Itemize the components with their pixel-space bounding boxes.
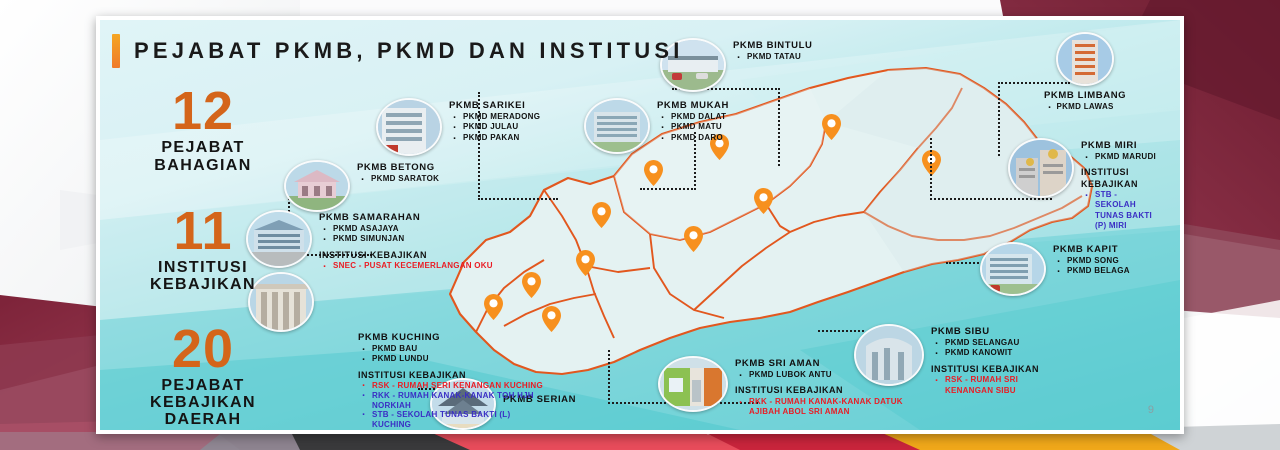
building-mukah-icon — [586, 100, 648, 152]
map-pin-samarahan[interactable] — [522, 272, 541, 298]
block-item: PKMD KANOWIT — [931, 348, 1063, 359]
block-limbang: PKMB LIMBANG PKMD LAWAS — [1044, 32, 1126, 112]
block-item: PKMD LAWAS — [1044, 102, 1126, 113]
block-item: PKMD DARO — [657, 133, 729, 144]
thumb-betong — [284, 160, 350, 212]
statistics-column: 12 PEJABAT BAHAGIAN 11 INSTITUSI KEBAJIK… — [118, 82, 288, 434]
block-title: PKMB SAMARAHAN — [319, 212, 493, 224]
block-item: PKMD JULAU — [449, 122, 540, 133]
block-item: PKMD MATU — [657, 122, 729, 133]
stat-pejabat-kebajikan-daerah: 20 PEJABAT KEBAJIKAN DAERAH — [118, 324, 288, 429]
block-title: PKMB SRI AMAN — [735, 358, 921, 370]
page-number: 9 — [1148, 404, 1154, 416]
building-sri-aman-icon — [660, 358, 726, 410]
connector-miri-v — [930, 138, 932, 200]
block-mukah-text: PKMB MUKAH PKMD DALAT PKMD MATU PKMD DAR… — [657, 98, 729, 144]
institution-heading: INSTITUSI KEBAJIKAN — [1081, 167, 1143, 190]
map-pin-sibu[interactable] — [684, 226, 703, 252]
block-kuching: PKMB KUCHING PKMD BAU PKMD LUNDU INSTITU… — [358, 332, 543, 434]
block-betong-text: PKMB BETONG PKMD SARATOK — [357, 160, 439, 184]
thumb-kapit — [980, 242, 1046, 296]
institution-item: STB - SEKOLAH TUNAS BAKTI (P) MIRI — [1081, 190, 1159, 232]
map-pin-miri[interactable] — [822, 114, 841, 140]
block-item: PKMD MARUDI — [1081, 152, 1159, 163]
building-kapit-icon — [982, 244, 1044, 294]
block-betong: PKMB BETONG PKMD SARATOK — [284, 160, 439, 212]
map-pin-serian[interactable] — [542, 306, 561, 332]
institution-heading: INSTITUSI KEBAJIKAN — [735, 385, 921, 396]
block-item: PKMD BELAGA — [1053, 266, 1130, 277]
block-kapit-text: PKMB KAPIT PKMD SONG PKMD BELAGA — [1053, 242, 1130, 277]
thumb-limbang — [1056, 32, 1114, 86]
block-title: PKMB MIRI — [1081, 140, 1159, 152]
institution-item: RKK - RUMAH KANAK-KANAK DATUK AJIBAH ABO… — [735, 397, 921, 418]
institution-item: TSP - TAMAN SERI PUTERI — [358, 430, 543, 434]
institution-item: RSK - RUMAH SRI KENANGAN SIBU — [931, 375, 1063, 396]
block-item: PKMD PAKAN — [449, 133, 540, 144]
block-mukah: PKMB MUKAH PKMD DALAT PKMD MATU PKMD DAR… — [584, 98, 729, 154]
block-title: PKMB MUKAH — [657, 100, 729, 112]
stat-pejabat-bahagian: 12 PEJABAT BAHAGIAN — [118, 86, 288, 174]
map-pin-sarikei[interactable] — [592, 202, 611, 228]
block-item: PKMD SARATOK — [357, 174, 439, 185]
connector-sriaman-v — [608, 350, 610, 404]
block-item: PKMD BAU — [358, 344, 543, 355]
connector-bintulu-v — [778, 88, 780, 166]
connector-limbang-v — [998, 82, 1000, 156]
block-title: PKMB SIBU — [931, 326, 1063, 338]
block-miri: PKMB MIRI PKMD MARUDI INSTITUSI KEBAJIKA… — [1008, 138, 1159, 231]
block-item: PKMD ASAJAYA — [319, 224, 493, 235]
thumb-mukah — [584, 98, 650, 154]
building-sarikei-icon — [378, 100, 440, 154]
block-bintulu-text: PKMB BINTULU PKMD TATAU — [733, 38, 813, 62]
block-item: PKMD LUBOK ANTU — [735, 370, 921, 381]
stat-label: INSTITUSI KEBAJIKAN — [118, 259, 288, 294]
block-samarahan-text: PKMB SAMARAHAN PKMD ASAJAYA PKMD SIMUNJA… — [319, 210, 493, 272]
block-kapit: PKMB KAPIT PKMD SONG PKMD BELAGA — [980, 242, 1130, 296]
block-item: PKMD LUNDU — [358, 354, 543, 365]
slide-stage: PEJABAT PKMB, PKMD DAN INSTITUSI 12 PEJA… — [0, 0, 1280, 450]
thumb-sarikei — [376, 98, 442, 156]
block-sarikei-text: PKMB SARIKEI PKMD MERADONG PKMD JULAU PK… — [449, 98, 540, 144]
thumb-sri-aman — [658, 356, 728, 412]
stat-number: 12 — [118, 86, 288, 137]
slide-card: PEJABAT PKMB, PKMD DAN INSTITUSI 12 PEJA… — [96, 16, 1184, 434]
block-sibu-text: PKMB SIBU PKMD SELANGAU PKMD KANOWIT INS… — [931, 324, 1063, 396]
block-limbang-text: PKMB LIMBANG PKMD LAWAS — [1044, 88, 1126, 112]
stat-label: PEJABAT BAHAGIAN — [118, 139, 288, 174]
stat-number: 20 — [118, 324, 288, 375]
stat-institusi-kebajikan: 11 INSTITUSI KEBAJIKAN — [118, 206, 288, 294]
institution-item: SNEC - PUSAT KECEMERLANGAN OKU — [319, 261, 493, 271]
stat-number: 11 — [118, 206, 288, 257]
block-title: PKMB KAPIT — [1053, 244, 1130, 256]
map-pin-mukah[interactable] — [644, 160, 663, 186]
block-title: PKMB BINTULU — [733, 40, 813, 52]
block-title: PKMB KUCHING — [358, 332, 543, 344]
block-item: PKMD SONG — [1053, 256, 1130, 267]
connector-sarikei — [478, 198, 558, 200]
title-accent-bar — [112, 34, 120, 68]
block-item: PKMD SIMUNJAN — [319, 234, 493, 245]
page-title: PEJABAT PKMB, PKMD DAN INSTITUSI — [112, 34, 684, 68]
block-sarikei: PKMB SARIKEI PKMD MERADONG PKMD JULAU PK… — [376, 98, 540, 156]
block-title: PKMB LIMBANG — [1044, 90, 1126, 102]
building-miri-icon — [1010, 140, 1072, 196]
institution-heading: INSTITUSI KEBAJIKAN — [319, 250, 493, 261]
map-pin-betong[interactable] — [576, 250, 595, 276]
block-item: PKMD TATAU — [733, 52, 813, 63]
block-sri-aman-text: PKMB SRI AMAN PKMD LUBOK ANTU INSTITUSI … — [735, 356, 921, 417]
institution-heading: INSTITUSI KEBAJIKAN — [931, 364, 1063, 375]
connector-mukah — [640, 188, 696, 190]
institution-heading: INSTITUSI KEBAJIKAN — [358, 370, 543, 381]
building-betong-icon — [286, 162, 348, 210]
institution-item: RSK - RUMAH SERI KENANGAN KUCHING — [358, 381, 543, 391]
block-title: PKMB SARIKEI — [449, 100, 540, 112]
block-item: PKMD SELANGAU — [931, 338, 1063, 349]
institution-item: STB - SEKOLAH TUNAS BAKTI (L) KUCHING — [358, 410, 543, 430]
institution-item: RKK - RUMAH KANAK-KANAK TOH HJH NORKIAH — [358, 391, 543, 411]
stat-label: PEJABAT KEBAJIKAN DAERAH — [118, 377, 288, 429]
block-miri-text: PKMB MIRI PKMD MARUDI INSTITUSI KEBAJIKA… — [1081, 138, 1159, 231]
block-item: PKMD DALAT — [657, 112, 729, 123]
block-sri-aman: PKMB SRI AMAN PKMD LUBOK ANTU INSTITUSI … — [658, 356, 921, 417]
block-item: PKMD MERADONG — [449, 112, 540, 123]
map-pin-kuching[interactable] — [484, 294, 503, 320]
thumb-miri — [1008, 138, 1074, 198]
map-pin-kapit[interactable] — [754, 188, 773, 214]
building-limbang-icon — [1058, 34, 1112, 84]
title-text: PEJABAT PKMB, PKMD DAN INSTITUSI — [134, 38, 684, 64]
block-title: PKMB BETONG — [357, 162, 439, 174]
